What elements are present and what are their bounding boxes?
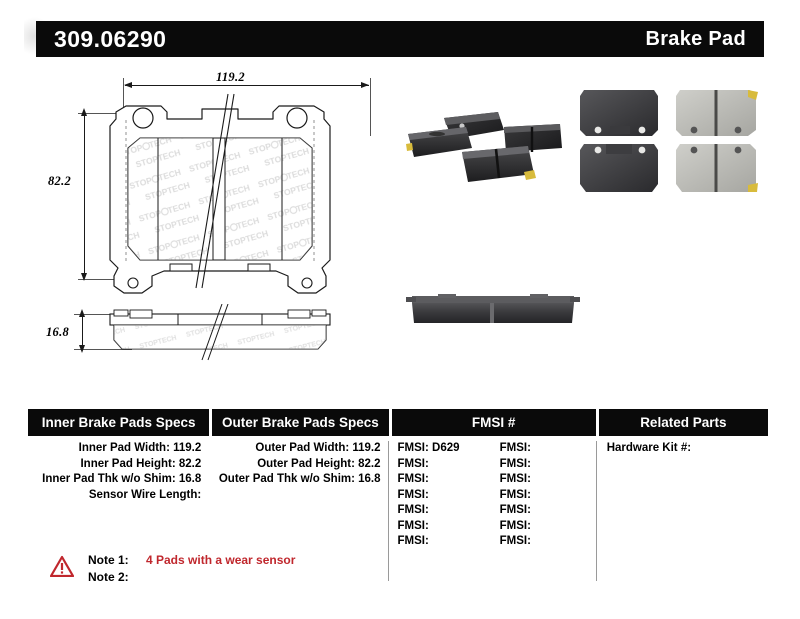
fmsi-subcolumn-left: FMSI: D629 FMSI: FMSI: FMSI: FMSI: FMSI:… — [392, 441, 494, 550]
note-1: Note 1: 4 Pads with a wear sensor — [88, 552, 295, 569]
fmsi-row: FMSI: — [494, 472, 596, 488]
header-related-parts: Related Parts — [599, 409, 768, 436]
product-photo-topdown-group — [570, 82, 770, 202]
spec-sheet-page: 309.06290 Brake Pad 119.2 82.2 STOP TECH… — [0, 0, 800, 619]
fmsi-row: FMSI: — [494, 503, 596, 519]
fmsi-row: FMSI: D629 — [392, 441, 494, 457]
product-type: Brake Pad — [645, 28, 746, 51]
fmsi-row: FMSI: — [392, 519, 494, 535]
table-body: Inner Pad Width: 119.2 Inner Pad Height:… — [28, 441, 768, 550]
column-fmsi: FMSI: D629 FMSI: FMSI: FMSI: FMSI: FMSI:… — [392, 441, 596, 550]
specifications-table: Inner Brake Pads Specs Outer Brake Pads … — [28, 409, 768, 550]
fmsi-subcolumn-right: FMSI: FMSI: FMSI: FMSI: FMSI: FMSI: FMSI… — [494, 441, 596, 550]
outer-spec-row: Outer Pad Thk w/o Shim: 16.8 — [212, 472, 388, 488]
column-divider-2 — [596, 441, 597, 581]
outer-spec-row: Outer Pad Height: 82.2 — [212, 457, 388, 473]
inner-spec-row: Sensor Wire Length: — [28, 488, 209, 504]
column-inner-specs: Inner Pad Width: 119.2 Inner Pad Height:… — [28, 441, 209, 550]
inner-spec-row: Inner Pad Width: 119.2 — [28, 441, 209, 457]
header-fmsi: FMSI # — [392, 409, 596, 436]
fmsi-row: FMSI: — [392, 472, 494, 488]
column-outer-specs: Outer Pad Width: 119.2 Outer Pad Height:… — [212, 441, 388, 550]
product-photo-perspective — [400, 82, 590, 192]
inner-spec-row: Inner Pad Thk w/o Shim: 16.8 — [28, 472, 209, 488]
fmsi-row: FMSI: — [392, 457, 494, 473]
header-inner-specs: Inner Brake Pads Specs — [28, 409, 209, 436]
outer-spec-row: Outer Pad Width: 119.2 — [212, 441, 388, 457]
fmsi-row: FMSI: — [494, 519, 596, 535]
fmsi-row: FMSI: — [494, 488, 596, 504]
fmsi-row: FMSI: — [392, 503, 494, 519]
note-1-value: 4 Pads with a wear sensor — [146, 552, 295, 569]
pad-side-view: STOPTECH — [30, 304, 410, 394]
fmsi-row: FMSI: — [494, 457, 596, 473]
note-1-label: Note 1: — [88, 552, 140, 569]
warning-triangle-icon — [50, 555, 74, 577]
technical-drawing: 119.2 82.2 STOP TECH STOPTECH — [30, 64, 410, 394]
notes-section: Note 1: 4 Pads with a wear sensor Note 2… — [50, 552, 295, 586]
fmsi-row: FMSI: — [392, 534, 494, 550]
product-photo-edge-view — [398, 282, 588, 342]
related-part-row: Hardware Kit #: — [599, 441, 768, 457]
fmsi-row: FMSI: — [392, 488, 494, 504]
fmsi-row: FMSI: — [494, 534, 596, 550]
note-2: Note 2: — [88, 569, 295, 586]
column-related-parts: Hardware Kit #: — [599, 441, 768, 550]
inner-spec-row: Inner Pad Height: 82.2 — [28, 457, 209, 473]
note-lines: Note 1: 4 Pads with a wear sensor Note 2… — [88, 552, 295, 586]
note-2-label: Note 2: — [88, 569, 140, 586]
fmsi-row: FMSI: — [494, 441, 596, 457]
header-outer-specs: Outer Brake Pads Specs — [212, 409, 388, 436]
column-divider-1 — [388, 441, 389, 581]
table-header-row: Inner Brake Pads Specs Outer Brake Pads … — [28, 409, 768, 436]
part-number: 309.06290 — [54, 26, 166, 53]
header-bar: 309.06290 Brake Pad — [36, 21, 764, 57]
